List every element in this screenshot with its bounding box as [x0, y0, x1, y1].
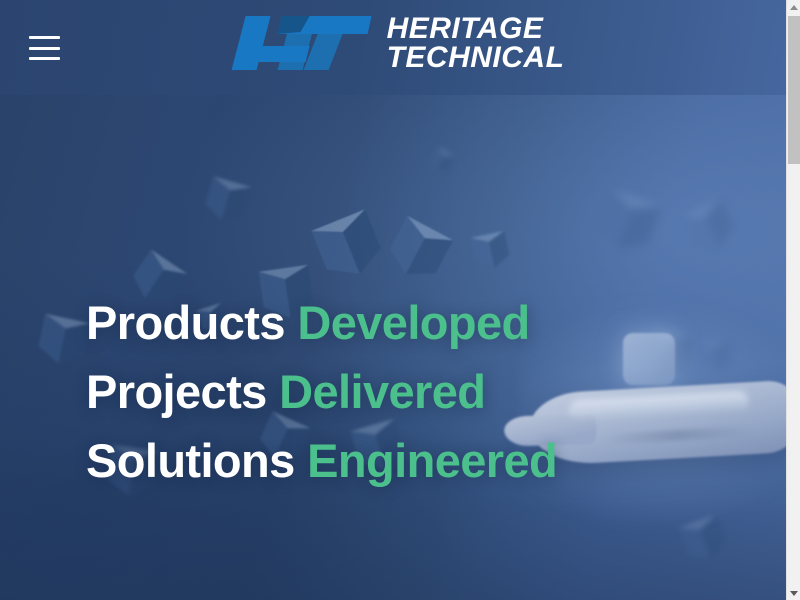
headline-line-3: Solutions Engineered [86, 426, 557, 495]
brand-name-line-1: HERITAGE [387, 14, 565, 43]
hamburger-bar-1 [29, 36, 60, 39]
ht-monogram-icon [222, 12, 372, 74]
brand-name-line-2: TECHNICAL [387, 43, 565, 72]
scroll-up-arrow-icon[interactable] [787, 0, 800, 14]
browser-viewport: HERITAGE TECHNICAL Products Developed Pr… [0, 0, 800, 600]
headline-2-plain: Projects [86, 365, 267, 418]
headline-1-plain: Products [86, 296, 285, 349]
headline-line-1: Products Developed [86, 288, 557, 357]
hamburger-menu-icon[interactable] [29, 36, 60, 60]
hamburger-bar-2 [29, 47, 60, 50]
page-content: HERITAGE TECHNICAL Products Developed Pr… [0, 0, 786, 600]
headline-3-accent: Engineered [307, 434, 557, 487]
scroll-down-arrow-icon[interactable] [787, 586, 800, 600]
headline-line-2: Projects Delivered [86, 357, 557, 426]
headline-1-accent: Developed [297, 296, 529, 349]
brand-logo-link[interactable]: HERITAGE TECHNICAL [222, 12, 565, 74]
brand-wordmark: HERITAGE TECHNICAL [387, 14, 565, 73]
vertical-scrollbar[interactable] [786, 0, 800, 600]
headline-2-accent: Delivered [279, 365, 485, 418]
site-header: HERITAGE TECHNICAL [0, 0, 786, 95]
scrollbar-thumb[interactable] [788, 16, 800, 164]
hero-headline: Products Developed Projects Delivered So… [86, 288, 557, 495]
headline-3-plain: Solutions [86, 434, 295, 487]
hamburger-bar-3 [29, 57, 60, 60]
